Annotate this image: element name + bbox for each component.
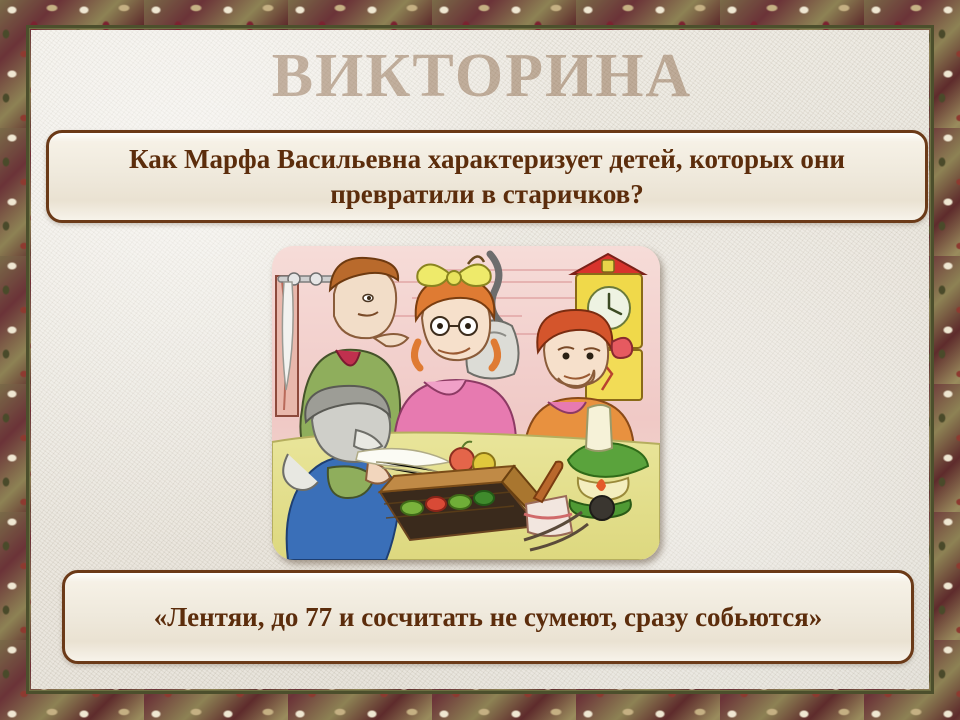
question-text: Как Марфа Васильевна характеризует детей… bbox=[49, 142, 925, 210]
answer-panel: «Лентяи, до 77 и сосчитать не сумеют, ср… bbox=[62, 570, 914, 664]
illustration-svg bbox=[272, 246, 660, 560]
question-panel: Как Марфа Васильевна характеризует детей… bbox=[46, 130, 928, 223]
illustration-image bbox=[272, 246, 660, 560]
answer-text: «Лентяи, до 77 и сосчитать не сумеют, ср… bbox=[65, 600, 911, 634]
quiz-slide: ВИКТОРИНА ВИКТОРИНА Как Марфа Васильевна… bbox=[0, 0, 960, 720]
